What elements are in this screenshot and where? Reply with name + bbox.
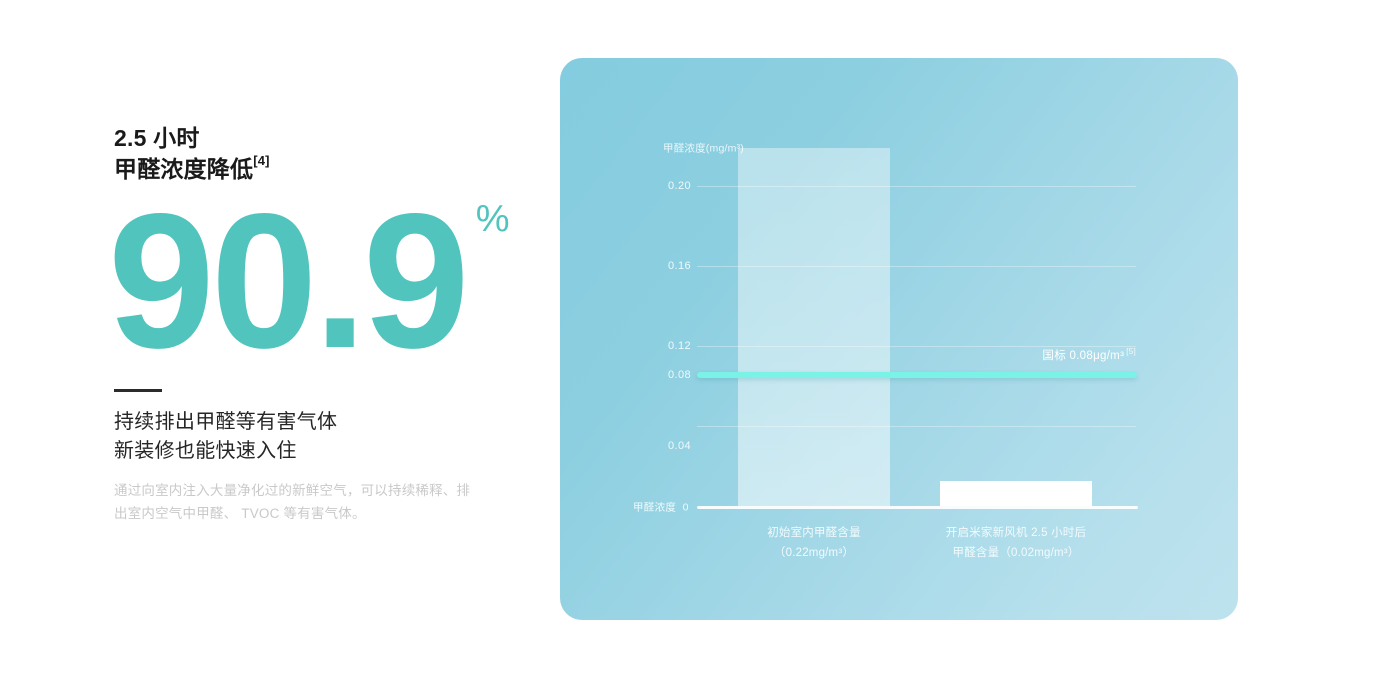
threshold-line-national-standard (697, 372, 1137, 378)
category-label-after: 开启米家新风机 2.5 小时后 甲醛含量（0.02mg/m³） (901, 523, 1131, 563)
x-axis-baseline (697, 506, 1138, 509)
y-axis-title: 甲醛浓度(mg/m³) (663, 141, 744, 156)
y-axis-zero-caption: 甲醛浓度 (633, 502, 676, 514)
category-label-initial: 初始室内甲醛含量 （0.22mg/m³） (699, 523, 929, 563)
y-tick-label-4: 0.04 (668, 440, 691, 452)
threshold-label: 国标 0.08μg/m³[5] (1042, 347, 1136, 363)
category-label-initial-line2: （0.22mg/m³） (699, 543, 929, 563)
bar-initial-formaldehyde (738, 148, 890, 506)
category-label-initial-line1: 初始室内甲醛含量 (699, 523, 929, 543)
subtitle-line-2: 新装修也能快速入住 (114, 437, 514, 466)
divider-rule (114, 389, 162, 392)
description-block: 通过向室内注入大量净化过的新鲜空气，可以持续稀释、排 出室内空气中甲醛、 TVO… (114, 479, 496, 525)
threshold-reference-marker: [5] (1126, 347, 1136, 356)
bar-after-purifier (940, 481, 1092, 506)
category-label-after-line2: 甲醛含量（0.02mg/m³） (901, 543, 1131, 563)
y-tick-label-0: 0.20 (668, 180, 691, 192)
description-line-1: 通过向室内注入大量净化过的新鲜空气，可以持续稀释、排 (114, 479, 496, 502)
headline-reference-marker: [4] (253, 153, 270, 168)
subtitle-block: 持续排出甲醛等有害气体 新装修也能快速入住 (114, 408, 514, 466)
percent-symbol: % (476, 200, 510, 238)
y-tick-label-1: 0.16 (668, 260, 691, 272)
left-info-panel: 2.5 小时 甲醛浓度降低[4] 90.9 % 持续排出甲醛等有害气体 新装修也… (0, 0, 540, 683)
subtitle-line-1: 持续排出甲醛等有害气体 (114, 408, 514, 437)
threshold-label-text: 国标 0.08μg/m³ (1042, 350, 1124, 362)
y-tick-label-5: 0 (683, 502, 689, 514)
description-line-2: 出室内空气中甲醛、 TVOC 等有害气体。 (114, 502, 496, 525)
statistic-row: 90.9 % (108, 185, 509, 377)
bar-chart: 甲醛浓度(mg/m³) 0.20 0.16 0.12 0.08 0.04 甲醛浓… (560, 58, 1238, 620)
chart-card: 甲醛浓度(mg/m³) 0.20 0.16 0.12 0.08 0.04 甲醛浓… (560, 58, 1238, 620)
y-tick-label-zero: 甲醛浓度 0 (633, 500, 689, 515)
y-tick-label-3: 0.08 (668, 369, 691, 381)
headline-line-1: 2.5 小时 (114, 123, 514, 154)
y-tick-label-2: 0.12 (668, 340, 691, 352)
statistic-value: 90.9 (108, 185, 466, 377)
category-label-after-line1: 开启米家新风机 2.5 小时后 (901, 523, 1131, 543)
